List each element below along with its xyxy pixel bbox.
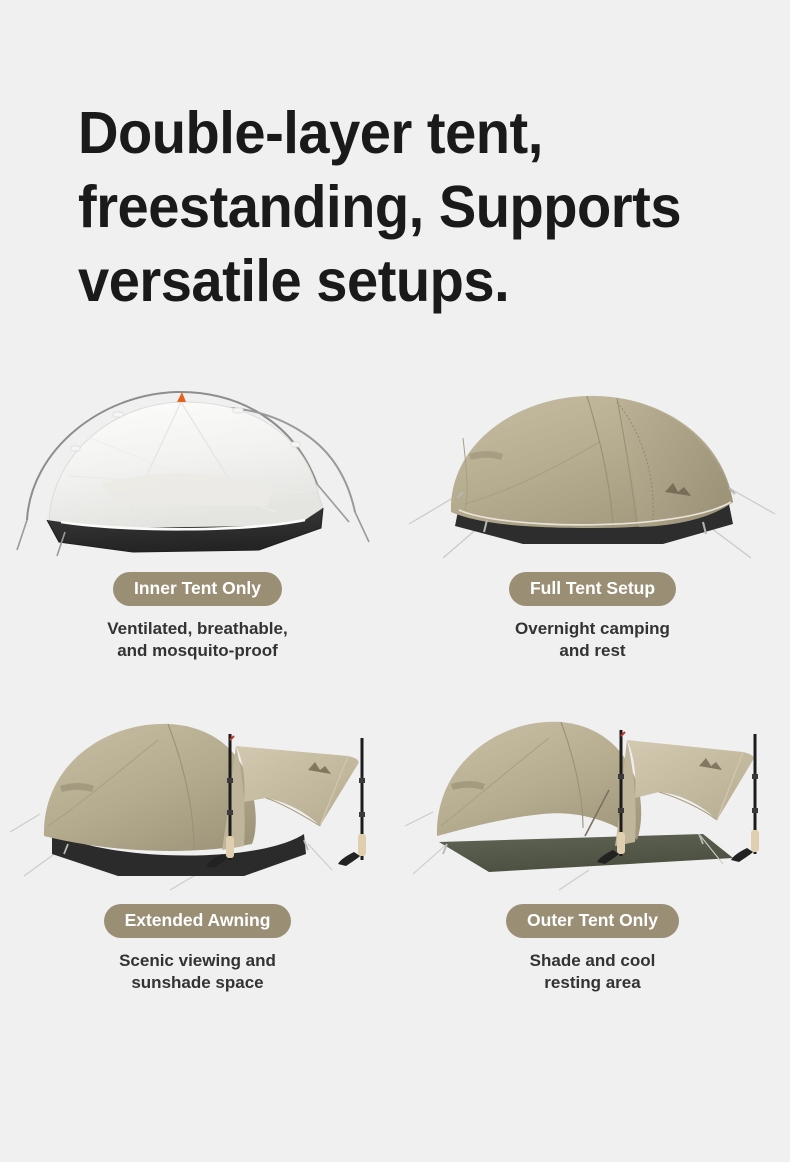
card-full-tent-setup[interactable]: Full Tent Setup Overnight camping and re…	[395, 372, 790, 662]
caption-line-2: and mosquito-proof	[107, 640, 287, 662]
inner-tent-illustration	[5, 372, 385, 562]
caption-line-2: and rest	[515, 640, 670, 662]
headline-line-1: Double-layer tent,	[78, 96, 743, 170]
caption-line-1: Overnight camping	[515, 618, 670, 640]
badge-inner-tent-only: Inner Tent Only	[113, 572, 282, 606]
setup-options-grid: Inner Tent Only Ventilated, breathable, …	[0, 372, 790, 994]
card-inner-tent-only[interactable]: Inner Tent Only Ventilated, breathable, …	[0, 372, 395, 662]
outer-tent-illustration	[403, 694, 783, 894]
caption-line-2: resting area	[530, 972, 656, 994]
grid-row-top: Inner Tent Only Ventilated, breathable, …	[0, 372, 790, 662]
grid-row-bottom: Extended Awning Scenic viewing and sunsh…	[0, 694, 790, 994]
caption-inner-tent-only: Ventilated, breathable, and mosquito-pro…	[107, 618, 287, 662]
caption-line-1: Shade and cool	[530, 950, 656, 972]
full-tent-illustration	[403, 372, 783, 562]
page-title: Double-layer tent, freestanding, Support…	[78, 96, 743, 318]
badge-full-tent-setup: Full Tent Setup	[509, 572, 676, 606]
groundsheet	[439, 834, 733, 872]
caption-full-tent-setup: Overnight camping and rest	[515, 618, 670, 662]
extended-awning-illustration	[8, 694, 388, 894]
caption-line-1: Ventilated, breathable,	[107, 618, 287, 640]
headline-line-3: versatile setups.	[78, 244, 743, 318]
caption-line-1: Scenic viewing and	[119, 950, 276, 972]
caption-outer-tent-only: Shade and cool resting area	[530, 950, 656, 994]
badge-outer-tent-only: Outer Tent Only	[506, 904, 679, 938]
caption-line-2: sunshade space	[119, 972, 276, 994]
card-outer-tent-only[interactable]: Outer Tent Only Shade and cool resting a…	[395, 694, 790, 994]
caption-extended-awning: Scenic viewing and sunshade space	[119, 950, 276, 994]
card-extended-awning[interactable]: Extended Awning Scenic viewing and sunsh…	[0, 694, 395, 994]
badge-extended-awning: Extended Awning	[104, 904, 292, 938]
headline-line-2: freestanding, Supports	[78, 170, 743, 244]
orange-accent-tab	[177, 392, 186, 402]
